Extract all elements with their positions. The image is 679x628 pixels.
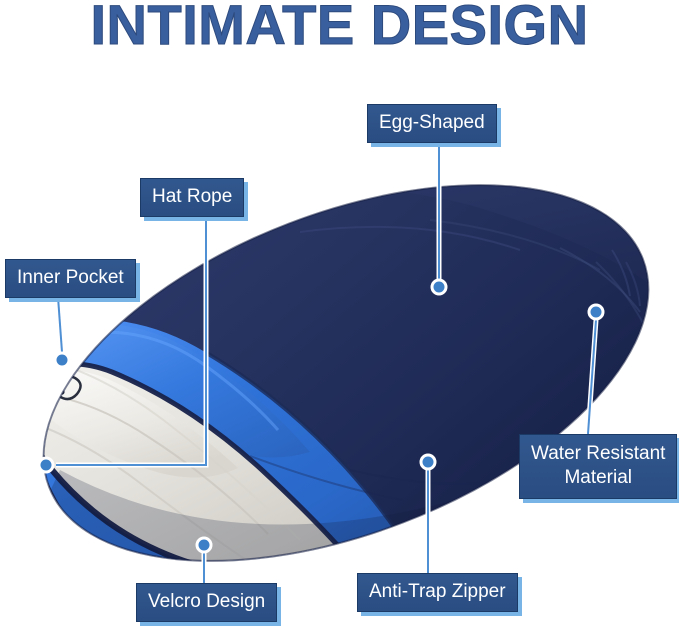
callout-anti-trap-zipper[interactable]: Anti-Trap Zipper	[357, 573, 518, 612]
callout-water-resistant-label-line1: Water Resistant	[531, 443, 665, 464]
callout-anti-trap-zipper-box[interactable]: Anti-Trap Zipper	[357, 573, 518, 612]
callout-egg-shaped-label: Egg-Shaped	[379, 112, 485, 133]
leader-water-resistant	[588, 305, 603, 434]
callout-egg-shaped-box[interactable]: Egg-Shaped	[367, 104, 497, 143]
callout-velcro-design-label: Velcro Design	[148, 591, 265, 612]
callout-velcro-design-box[interactable]: Velcro Design	[136, 583, 277, 622]
callout-hat-rope-label: Hat Rope	[152, 186, 232, 207]
leader-anti-trap-zipper	[421, 455, 435, 573]
leader-egg-shaped	[432, 142, 446, 294]
page-title: INTIMATE DESIGN	[0, 0, 679, 56]
callout-hat-rope-box[interactable]: Hat Rope	[140, 178, 244, 217]
callout-hat-rope[interactable]: Hat Rope	[140, 178, 244, 217]
callout-inner-pocket[interactable]: Inner Pocket	[5, 259, 136, 298]
leader-velcro-design	[197, 538, 211, 583]
callout-water-resistant-box[interactable]: Water Resistant Material	[519, 434, 677, 499]
callout-velcro-design[interactable]: Velcro Design	[136, 583, 277, 622]
callout-inner-pocket-label: Inner Pocket	[17, 267, 124, 288]
leader-hat-rope	[39, 216, 206, 472]
callout-water-resistant-label-line2: Material	[564, 467, 632, 488]
callout-inner-pocket-box[interactable]: Inner Pocket	[5, 259, 136, 298]
callout-water-resistant-material[interactable]: Water Resistant Material	[519, 434, 677, 499]
callout-anti-trap-zipper-label: Anti-Trap Zipper	[369, 581, 506, 602]
product-illustration	[0, 0, 679, 628]
callout-leader-lines	[0, 0, 679, 628]
leader-inner-pocket	[55, 297, 69, 367]
infographic-canvas: INTIMATE DESIGN	[0, 0, 679, 628]
callout-egg-shaped[interactable]: Egg-Shaped	[367, 104, 497, 143]
